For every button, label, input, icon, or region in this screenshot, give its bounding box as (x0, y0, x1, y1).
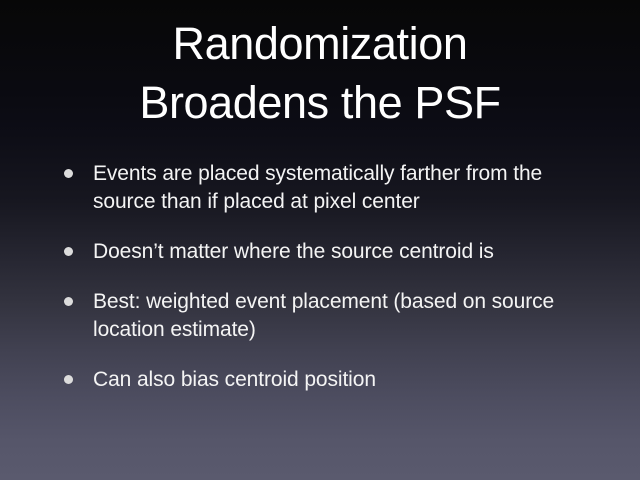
bullet-item-3-text: Best: weighted event placement (based on… (93, 288, 590, 344)
bullet-dot-icon (64, 297, 73, 306)
slide-title-line-1: Randomization (0, 14, 640, 73)
bullet-item-1: Events are placed systematically farther… (60, 160, 590, 216)
bullet-item-3: Best: weighted event placement (based on… (60, 288, 590, 344)
slide-title: Randomization Broadens the PSF (0, 14, 640, 132)
bullet-item-1-text: Events are placed systematically farther… (93, 160, 590, 216)
slide-title-line-2: Broadens the PSF (0, 73, 640, 132)
bullet-item-2-text: Doesn’t matter where the source centroid… (93, 238, 590, 266)
presentation-slide: Randomization Broadens the PSF Events ar… (0, 0, 640, 480)
slide-bullet-list: Events are placed systematically farther… (60, 160, 590, 394)
bullet-dot-icon (64, 169, 73, 178)
bullet-item-4: Can also bias centroid position (60, 366, 590, 394)
bullet-dot-icon (64, 375, 73, 384)
bullet-item-4-text: Can also bias centroid position (93, 366, 590, 394)
bullet-item-2: Doesn’t matter where the source centroid… (60, 238, 590, 266)
bullet-dot-icon (64, 247, 73, 256)
